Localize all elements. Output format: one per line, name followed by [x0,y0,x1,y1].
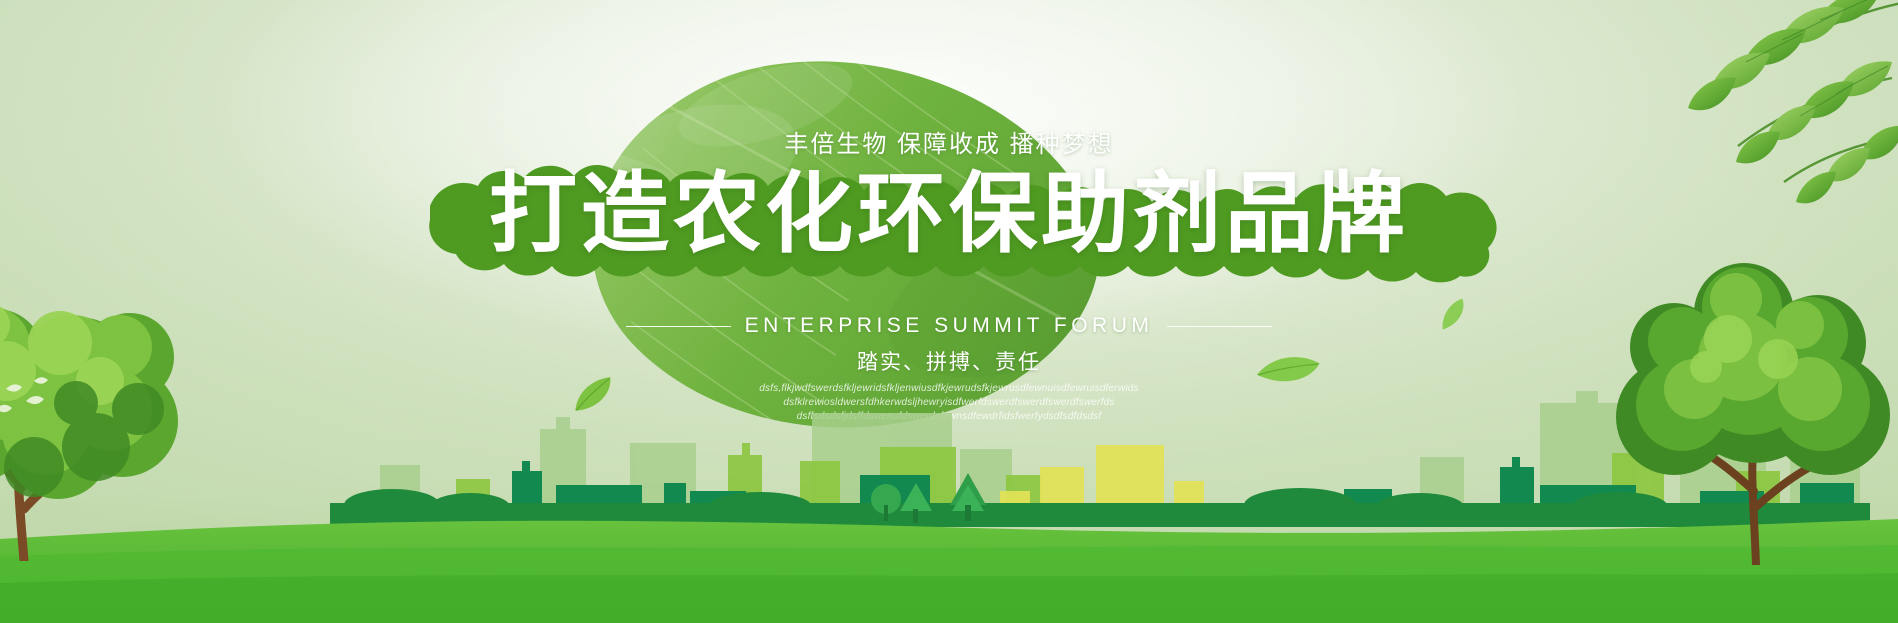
right-tree-icon [1578,255,1898,565]
corner-branch-icon [1488,0,1898,236]
divider-rule-icon [1167,326,1272,327]
left-tree-icon [0,261,312,561]
english-line: ENTERPRISE SUMMIT FORUM [745,314,1154,338]
hero-banner: 丰倍生物 保障收成 播种梦想 打造农化环保助剂品牌 ENTERPRISE SUM… [0,0,1898,623]
divider-rule-icon [626,326,731,327]
